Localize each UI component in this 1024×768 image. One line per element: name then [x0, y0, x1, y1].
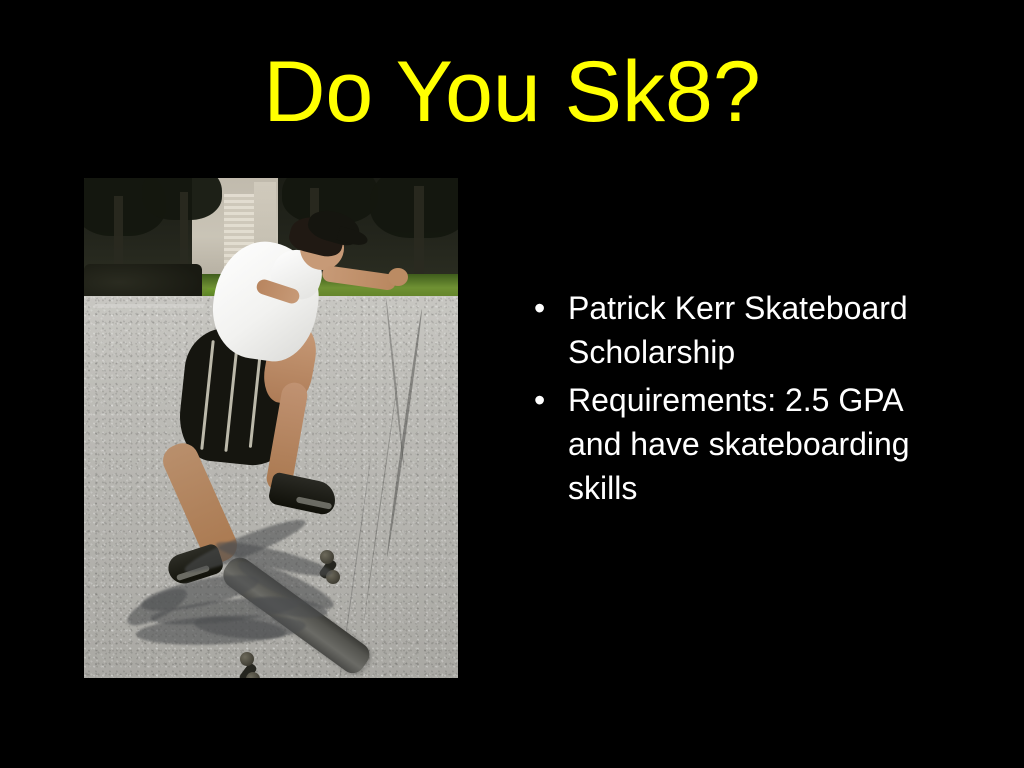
- list-item: • Patrick Kerr Skateboard Scholarship: [528, 286, 948, 374]
- presentation-slide: Do You Sk8?: [0, 0, 1024, 768]
- list-item: • Requirements: 2.5 GPA and have skatebo…: [528, 378, 948, 510]
- bullet-list: • Patrick Kerr Skateboard Scholarship • …: [528, 286, 948, 514]
- bullet-point-icon: •: [528, 378, 568, 422]
- slide-title: Do You Sk8?: [0, 46, 1024, 138]
- photo-content: [84, 178, 458, 678]
- ground-shadow: [84, 178, 458, 678]
- bullet-text: Patrick Kerr Skateboard Scholarship: [568, 286, 948, 374]
- bullet-point-icon: •: [528, 286, 568, 330]
- skateboarder-photo: [84, 178, 458, 678]
- bullet-text: Requirements: 2.5 GPA and have skateboar…: [568, 378, 948, 510]
